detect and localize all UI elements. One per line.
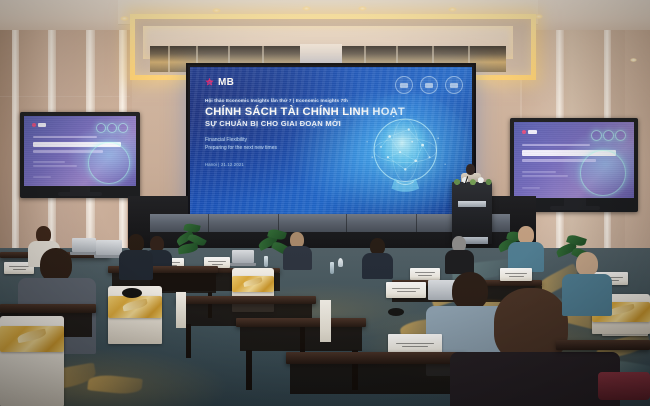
downlight-icon [212,8,221,13]
left-monitor-base [58,192,102,196]
downlight-icon [302,6,311,11]
downlight-icon [448,7,457,12]
water-bottle [330,262,334,274]
speaker-podium [452,182,492,244]
table-leg [186,324,191,358]
left-monitor-content [24,116,136,186]
table-row [556,340,650,350]
chair-sash [108,296,162,318]
wine-glass [338,258,343,267]
headphones-icon [122,288,142,298]
stage-plant [176,224,206,258]
downlight-icon [120,16,129,21]
table-row [176,296,316,304]
handbag [598,372,650,400]
main-led-screen: MB Hội thảo Economic Insights lần thứ 7 … [186,63,476,219]
wall-seam [0,96,130,97]
right-monitor-base [550,206,600,210]
mb-logo: MB [204,77,234,88]
downlight-icon [358,6,367,11]
laptop [232,250,254,263]
chair-sash [232,276,274,292]
table-row [286,352,466,364]
lightbulb-network-globe-icon [355,107,459,211]
partner-badge-row [395,76,463,94]
wall-panel [0,28,12,264]
table-skirt [290,364,462,394]
name-card [410,268,440,280]
conference-hall-scene: MB Hội thảo Economic Insights lần thứ 7 … [0,0,650,406]
screen-kicker: Hội thảo Economic Insights lần thứ 7 | E… [205,98,380,104]
right-monitor-stand [564,198,586,206]
downlight-icon [630,58,637,62]
partner-badge-3-icon [445,76,463,94]
laptop-base [230,263,256,266]
name-card [500,268,532,281]
partner-badge-2-icon [420,76,438,94]
podium-nameplate [458,201,486,207]
partner-badge-1-icon [395,76,413,94]
draped-napkin [320,300,331,342]
headphones-icon [388,308,404,316]
draped-napkin [176,292,186,328]
laptop [72,238,96,252]
table-skirt [240,327,362,351]
mb-logo-text: MB [218,78,234,88]
right-monitor-content [514,122,634,198]
mb-star-icon [204,77,215,88]
name-card [386,282,426,298]
screen-headline: CHÍNH SÁCH TÀI CHÍNH LINH HOẠT [205,106,380,119]
table-leg [246,350,252,390]
podium-floral-decoration [450,176,494,186]
table-row [236,318,366,327]
speaker-head [466,164,475,175]
water-bottle [264,256,268,267]
laptop [96,240,122,255]
chair-sash [0,326,64,352]
wall-pilaster [12,14,19,262]
table-row [0,304,96,313]
led-screen-content: MB Hội thảo Economic Insights lần thứ 7 … [190,67,472,215]
left-mirror-monitor [20,112,140,198]
